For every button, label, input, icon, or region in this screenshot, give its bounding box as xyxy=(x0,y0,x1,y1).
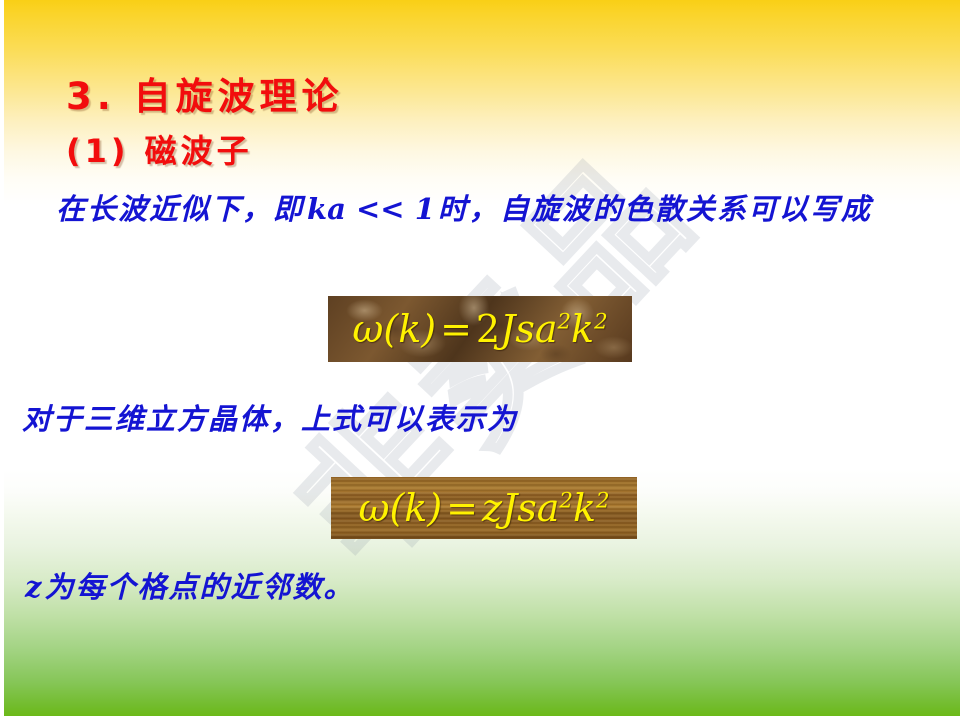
formula-plate-2: ω(k)=zJsa2k2 xyxy=(331,477,637,539)
formula-2-coefficient: z xyxy=(482,486,502,530)
formula-2-expression: ω(k)=zJsa2k2 xyxy=(358,489,609,527)
paragraph-3-text: 为每个格点的近邻数。 xyxy=(44,570,354,604)
formula-1-coefficient: 2 xyxy=(476,307,500,351)
formula-2-terms: Jsa xyxy=(502,486,559,530)
paragraph-2: 对于三维立方晶体，上式可以表示为 xyxy=(22,400,518,439)
slide-canvas: 非卖品 3. 自旋波理论 (1) 磁波子 在长波近似下，即ka << 1时，自旋… xyxy=(0,0,960,720)
formula-1-exponent-k: 2 xyxy=(594,309,608,334)
section-subtitle: (1) 磁波子 xyxy=(66,126,253,172)
formula-1-var-k: k xyxy=(571,307,594,351)
formula-2-exponent-k: 2 xyxy=(596,488,610,513)
formula-1-exponent-a: 2 xyxy=(558,309,572,334)
formula-2-var-k: k xyxy=(573,486,596,530)
formula-plate-1: ω(k)=2Jsa2k2 xyxy=(328,296,632,362)
formula-1-lhs: ω(k) xyxy=(352,307,436,351)
formula-1-terms: Jsa xyxy=(500,307,557,351)
page-title: 3. 自旋波理论 xyxy=(66,66,344,120)
paragraph-3: z为每个格点的近邻数。 xyxy=(22,568,354,607)
paragraph-1-text-b: 时，自旋波的色散关系可以写成 xyxy=(438,192,872,226)
paragraph-1: 在长波近似下，即ka << 1时，自旋波的色散关系可以写成 xyxy=(22,190,952,229)
formula-1-equals: = xyxy=(436,307,476,351)
formula-2-lhs: ω(k) xyxy=(358,486,442,530)
formula-1-expression: ω(k)=2Jsa2k2 xyxy=(352,310,607,348)
paragraph-1-text-a: 在长波近似下，即 xyxy=(56,192,304,226)
formula-2-equals: = xyxy=(442,486,482,530)
paragraph-3-inline-math: z xyxy=(22,570,44,604)
paragraph-1-inline-math: ka << 1 xyxy=(304,192,438,226)
formula-2-exponent-a: 2 xyxy=(559,488,573,513)
